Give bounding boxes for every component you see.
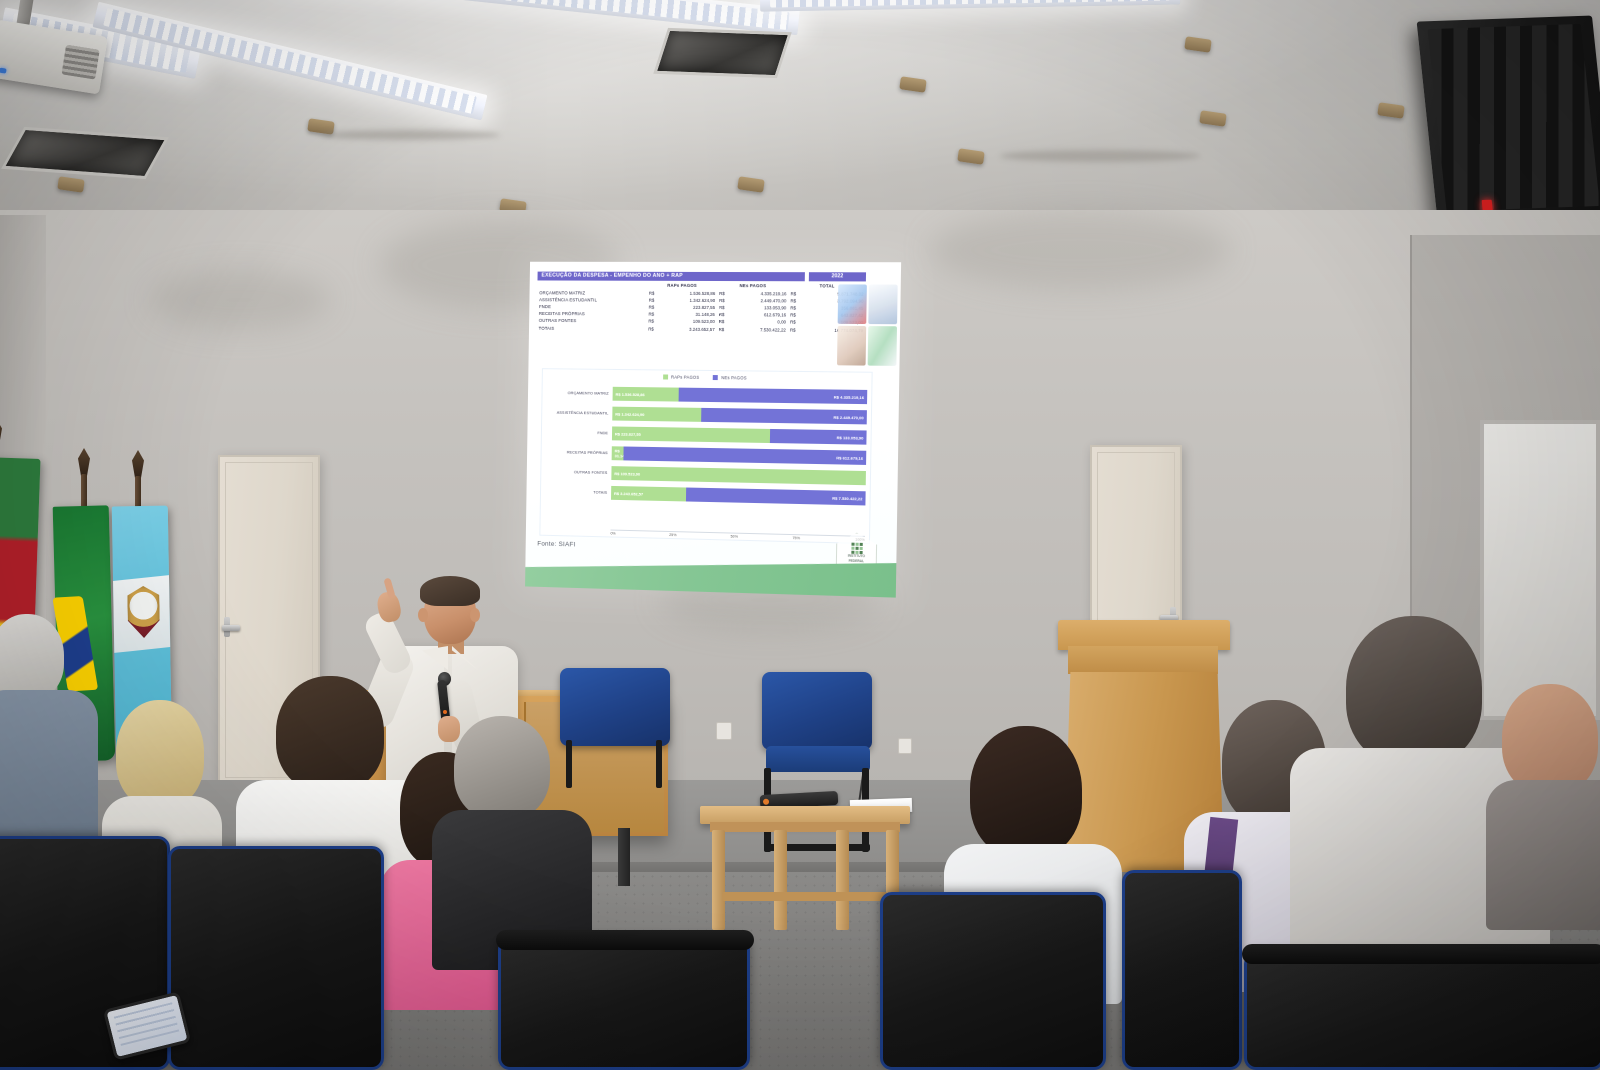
table-year: 2022 — [809, 272, 866, 281]
currency-symbol: R$ — [648, 326, 654, 331]
chart-bar-segment: R$ 133.053,90 — [770, 429, 866, 445]
collage-photo — [837, 326, 866, 366]
photo-scene: EXECUÇÃO DA DESPESA - EMPENHO DO ANO + R… — [0, 0, 1600, 1070]
chart-bar-track: R$ 1.536.528,86R$ 4.335.219,16 — [613, 387, 868, 404]
chart-bar-segment: R$ 1.536.528,86 — [613, 387, 679, 402]
audience-chair[interactable] — [1244, 952, 1600, 1070]
chart-bar-segment: R$ 3.243.652,57 — [611, 486, 687, 502]
row-label: TOTAIS — [537, 324, 647, 332]
chart-bar-track: R$ 31.148,26R$ 612.679,16 — [612, 446, 867, 465]
pa-speaker — [1417, 16, 1600, 236]
chart-category-label: RECEITAS PRÓPRIAS — [542, 450, 612, 456]
currency-symbol: R$ — [790, 320, 796, 325]
wall-outlet[interactable] — [716, 722, 732, 740]
stacked-bar-chart: RAPs PAGOSNEs PAGOS ORÇAMENTO MATRIZR$ 1… — [539, 368, 872, 544]
col-header-raps: RAPs PAGOS — [647, 282, 718, 290]
currency-symbol: R$ — [719, 291, 725, 296]
audience-person — [438, 716, 588, 946]
chart-bar-segment: R$ 2.449.470,00 — [701, 408, 867, 425]
audience-person — [0, 614, 102, 864]
slide-photo-collage — [837, 284, 898, 366]
audience-person — [1498, 684, 1600, 914]
audience-chair[interactable] — [168, 846, 384, 1070]
table-body: ORÇAMENTO MATRIZR$1.536.528,86R$4.335.21… — [537, 289, 866, 333]
chart-bar-segment: R$ 223.827,55 — [612, 426, 770, 443]
logo-dot-grid — [851, 543, 862, 554]
chart-bar-segment: R$ 612.679,16 — [624, 446, 867, 464]
ceiling — [0, 0, 1600, 245]
audience-chair[interactable] — [1122, 870, 1242, 1070]
legend-swatch — [663, 374, 668, 379]
chart-bar-segment: R$ 1.342.624,90 — [612, 407, 701, 422]
person-head — [276, 676, 384, 792]
wall-stain — [150, 270, 330, 330]
ceiling-crack — [320, 130, 500, 140]
flag-finial — [0, 418, 2, 448]
chair-seat — [766, 746, 870, 772]
chart-x-axis: 0%25%50%75%100% — [610, 529, 864, 542]
person-head — [970, 726, 1082, 858]
side-table-stretcher — [722, 892, 887, 901]
x-axis-tick: 50% — [730, 535, 737, 539]
table-leg — [836, 830, 849, 930]
currency-symbol: R$ — [719, 319, 725, 324]
presenter-ear — [470, 608, 480, 622]
presenter-ear — [418, 608, 428, 622]
currency-symbol: R$ — [648, 312, 654, 317]
wall-outlet[interactable] — [898, 738, 912, 754]
table-title: EXECUÇÃO DA DESPESA - EMPENHO DO ANO + R… — [537, 272, 804, 282]
chart-bar-track: R$ 3.243.652,57R$ 7.530.422,22 — [611, 486, 866, 506]
col-header-nes: NEs PAGOS — [717, 282, 788, 290]
cell-nes-pagos: R$7.530.422,22 — [717, 326, 788, 334]
side-table-apron — [710, 822, 900, 832]
currency-symbol: R$ — [719, 327, 725, 332]
chart-category-label: OUTRAS FONTES — [541, 469, 611, 475]
audience-chair[interactable] — [880, 892, 1106, 1070]
chair-armrest — [1242, 944, 1600, 964]
microphone-led — [443, 710, 447, 714]
currency-symbol: R$ — [719, 305, 725, 310]
legend-item: RAPs PAGOS — [663, 374, 699, 379]
chart-category-label: FNDE — [542, 430, 612, 436]
expense-table-grid: RAPs PAGOS NEs PAGOS TOTAL ORÇAMENTO MAT… — [537, 281, 866, 333]
door-handle[interactable] — [222, 625, 240, 631]
table-leg — [712, 830, 725, 930]
table-leg — [774, 830, 787, 930]
collage-photo — [868, 284, 897, 324]
person-head — [1502, 684, 1598, 794]
legend-item: NEs PAGOS — [713, 375, 747, 380]
currency-symbol: R$ — [790, 306, 796, 311]
chart-bar-segment: R$ 7.530.422,22 — [686, 488, 865, 506]
table-title-bar: EXECUÇÃO DA DESPESA - EMPENHO DO ANO + R… — [537, 272, 866, 282]
legend-label: RAPs PAGOS — [671, 375, 699, 380]
chart-bar-track: R$ 1.342.624,90R$ 2.449.470,00 — [612, 407, 867, 425]
chart-category-label: ORÇAMENTO MATRIZ — [543, 391, 613, 396]
chart-bar-segment: R$ 4.335.219,16 — [678, 388, 867, 405]
currency-symbol: R$ — [790, 313, 796, 318]
presenter-hair — [420, 576, 480, 606]
currency-symbol: R$ — [649, 298, 655, 303]
chair-frame — [656, 740, 662, 788]
chart-category-label: TOTAIS — [541, 489, 611, 495]
legend-swatch — [713, 375, 718, 380]
collage-photo — [838, 284, 867, 324]
currency-symbol: R$ — [649, 305, 655, 310]
x-axis-tick: 0% — [610, 532, 615, 536]
currency-symbol: R$ — [648, 319, 654, 324]
currency-symbol: R$ — [790, 298, 796, 303]
wall-stain — [930, 210, 1230, 290]
person-head — [0, 614, 64, 700]
currency-symbol: R$ — [719, 298, 725, 303]
lectern-neck — [1068, 646, 1218, 674]
person-torso — [1486, 780, 1600, 930]
x-axis-tick: 75% — [792, 536, 800, 540]
legend-label: NEs PAGOS — [721, 375, 747, 380]
chair-armrest — [496, 930, 754, 950]
collage-photo — [868, 326, 897, 366]
speaker-grill — [1427, 24, 1599, 211]
source-note: Fonte: SIAFI — [537, 541, 575, 549]
currency-symbol: R$ — [790, 327, 796, 332]
currency-symbol: R$ — [719, 312, 725, 317]
projector-power-led — [0, 68, 7, 74]
phone-screen-content — [114, 1002, 180, 1050]
cell-raps-pagos: R$3.243.652,57 — [646, 325, 716, 333]
chart-bar-track: R$ 223.827,55R$ 133.053,90 — [612, 426, 867, 444]
chart-plot-area: ORÇAMENTO MATRIZR$ 1.536.528,86R$ 4.335.… — [541, 383, 868, 527]
currency-symbol: R$ — [790, 291, 796, 296]
expense-table: EXECUÇÃO DA DESPESA - EMPENHO DO ANO + R… — [537, 272, 866, 334]
chart-bar-segment: R$ 31.148,26 — [612, 446, 624, 460]
logo-line-2: FEDERAL — [849, 559, 864, 563]
x-axis-tick: 25% — [669, 533, 676, 537]
chart-legend: RAPs PAGOSNEs PAGOS — [543, 369, 872, 382]
side-table — [700, 806, 910, 934]
person-head — [116, 700, 204, 808]
chart-category-label: ASSISTÊNCIA ESTUDANTIL — [542, 410, 612, 416]
audience-chair[interactable] — [498, 938, 750, 1070]
air-vent — [653, 28, 791, 78]
person-head — [454, 716, 550, 820]
slide-content: EXECUÇÃO DA DESPESA - EMPENHO DO ANO + R… — [525, 262, 901, 598]
currency-symbol: R$ — [649, 291, 655, 296]
projection-screen: EXECUÇÃO DA DESPESA - EMPENHO DO ANO + R… — [525, 262, 901, 598]
chart-bar-track: R$ 109.523,00 — [611, 466, 866, 485]
person-head — [1346, 616, 1482, 766]
chart-bar-segment: R$ 109.523,00 — [611, 466, 866, 485]
table-row: TOTAISR$3.243.652,57R$7.530.422,22R$10.7… — [537, 324, 865, 333]
chair-backrest — [762, 672, 872, 750]
ceiling-crack — [1000, 150, 1200, 162]
